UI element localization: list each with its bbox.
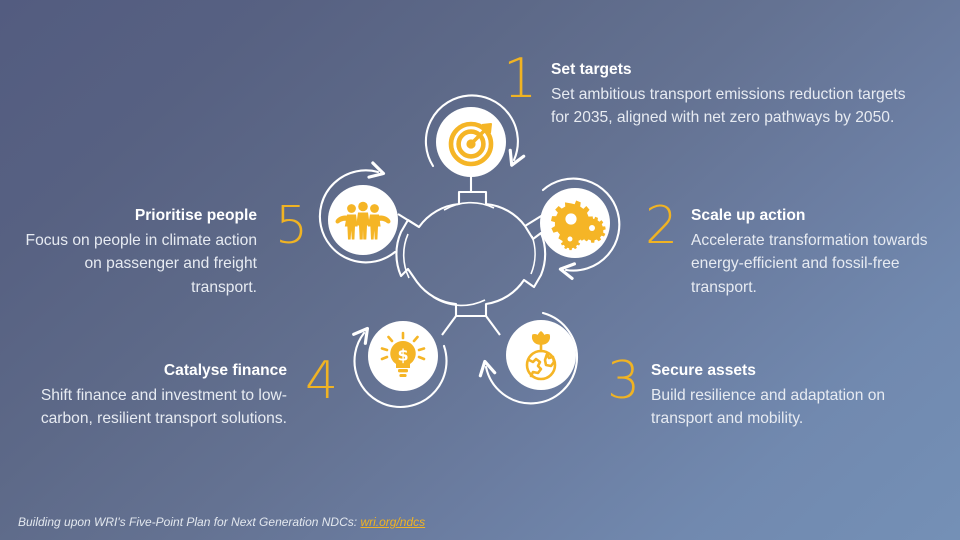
- five-point-plan-diagram: $: [300, 88, 640, 418]
- step-body-4: Shift finance and investment to low-carb…: [20, 384, 287, 431]
- step-title-4: Catalyse finance: [20, 359, 287, 383]
- step-title-5: Prioritise people: [20, 204, 257, 228]
- node-2-scale-up-action: [525, 179, 619, 271]
- step-number-5: 5: [275, 200, 308, 252]
- step-body-5: Focus on people in climate action on pas…: [20, 229, 257, 300]
- infographic-slide: $: [0, 0, 960, 540]
- hub-ring: [396, 192, 545, 316]
- footer-credit: Building upon WRI's Five-Point Plan for …: [18, 515, 425, 529]
- node-3-secure-assets: [486, 313, 577, 403]
- step-title-3: Secure assets: [651, 359, 921, 383]
- step-number-2: 2: [645, 200, 678, 252]
- footer-text: Building upon WRI's Five-Point Plan for …: [18, 515, 357, 529]
- step-text-5: Prioritise people Focus on people in cli…: [20, 204, 257, 300]
- step-number-4: 4: [305, 355, 338, 407]
- step-text-1: Set targets Set ambitious transport emis…: [551, 58, 923, 130]
- svg-text:$: $: [397, 346, 408, 365]
- step-text-4: Catalyse finance Shift finance and inves…: [20, 359, 287, 431]
- step-body-2: Accelerate transformation towards energy…: [691, 229, 941, 300]
- step-title-2: Scale up action: [691, 204, 941, 228]
- step-number-1: 1: [503, 52, 537, 106]
- target-icon: [451, 124, 491, 164]
- footer-link[interactable]: wri.org/ndcs: [360, 515, 425, 529]
- step-text-2: Scale up action Accelerate transformatio…: [691, 204, 941, 300]
- node-4-catalyse-finance: $: [355, 316, 456, 407]
- step-number-3: 3: [607, 355, 640, 407]
- step-text-3: Secure assets Build resilience and adapt…: [651, 359, 921, 431]
- step-title-1: Set targets: [551, 58, 923, 82]
- step-body-3: Build resilience and adaptation on trans…: [651, 384, 921, 431]
- step-body-1: Set ambitious transport emissions reduct…: [551, 83, 923, 130]
